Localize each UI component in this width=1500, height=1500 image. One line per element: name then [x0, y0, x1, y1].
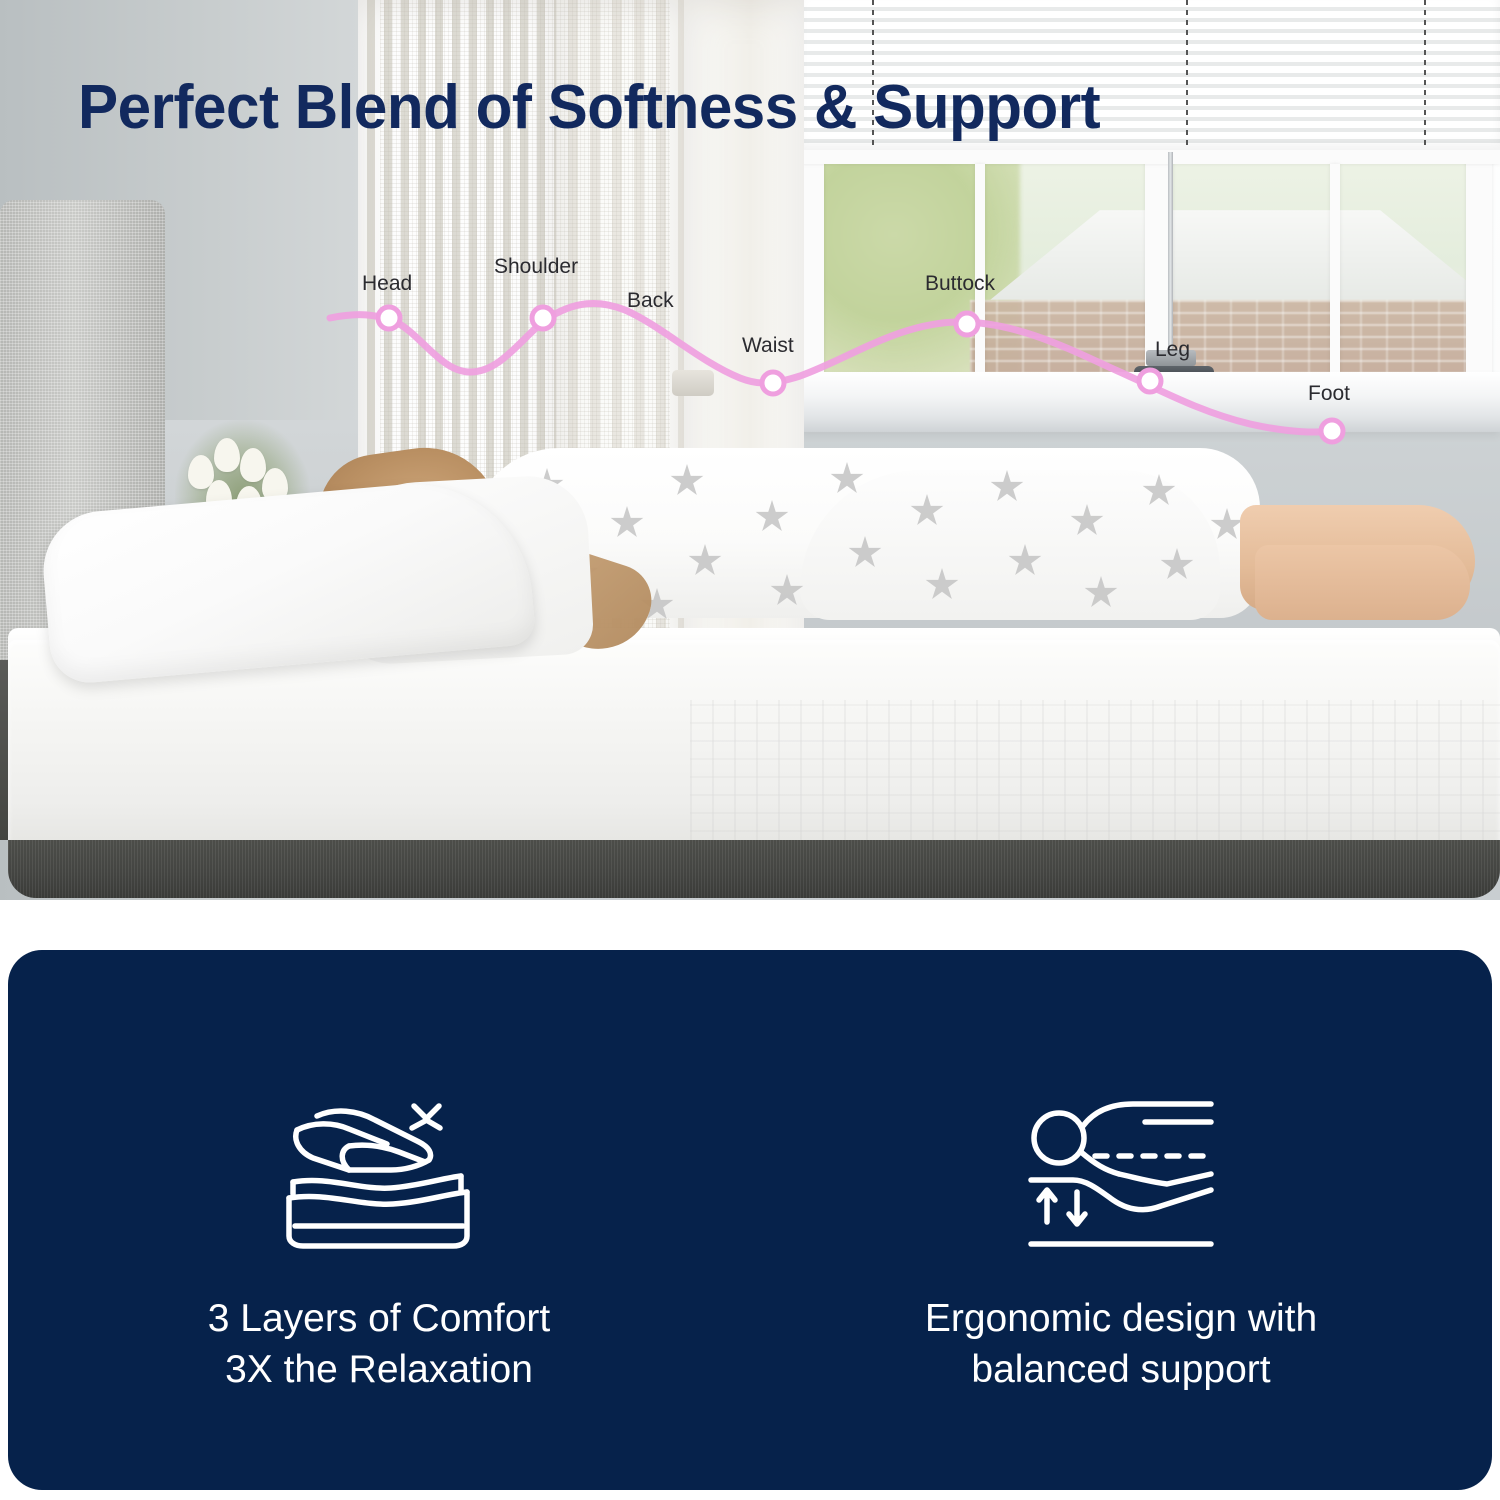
feature-comfort-layers: 3 Layers of Comfort 3X the Relaxation	[38, 1044, 721, 1395]
blind-cord-icon	[1424, 0, 1426, 150]
feature-comfort-line1: 3 Layers of Comfort	[208, 1294, 550, 1345]
neighbor-roof	[990, 210, 1480, 300]
lifestyle-photo-panel: HeadShoulderBackWaistButtockLegFoot Perf…	[0, 0, 1500, 900]
window-handle-base	[1146, 350, 1196, 366]
ergonomic-spine-alignment-icon	[1021, 1084, 1221, 1264]
mattress-quilting-texture	[690, 700, 1500, 850]
product-infographic: HeadShoulderBackWaistButtockLegFoot Perf…	[0, 0, 1500, 1500]
feature-ergonomic-design: Ergonomic design with balanced support	[780, 1044, 1463, 1395]
child-second-leg	[1255, 545, 1470, 620]
feature-comfort-line2: 3X the Relaxation	[208, 1345, 550, 1396]
bed-base	[8, 840, 1500, 898]
tulip-flower	[240, 448, 266, 482]
tulip-flower	[214, 438, 240, 472]
window-divider-b	[1330, 164, 1340, 402]
feature-ergonomic-line2: balanced support	[925, 1345, 1317, 1396]
window-sill	[800, 372, 1500, 432]
feature-comfort-caption: 3 Layers of Comfort 3X the Relaxation	[208, 1294, 550, 1395]
page-title: Perfect Blend of Softness & Support	[78, 72, 1100, 143]
window-handle-post	[1168, 152, 1173, 367]
features-panel: 3 Layers of Comfort 3X the Relaxation	[8, 950, 1492, 1490]
curtain-tieback	[672, 370, 714, 396]
hand-pressing-mattress-layers-icon	[279, 1084, 479, 1264]
window-divider-a	[975, 164, 985, 402]
feature-ergonomic-caption: Ergonomic design with balanced support	[925, 1294, 1317, 1395]
feature-ergonomic-line1: Ergonomic design with	[925, 1294, 1317, 1345]
window-mullion-right	[1466, 150, 1492, 402]
blind-cord-icon	[1186, 0, 1188, 150]
